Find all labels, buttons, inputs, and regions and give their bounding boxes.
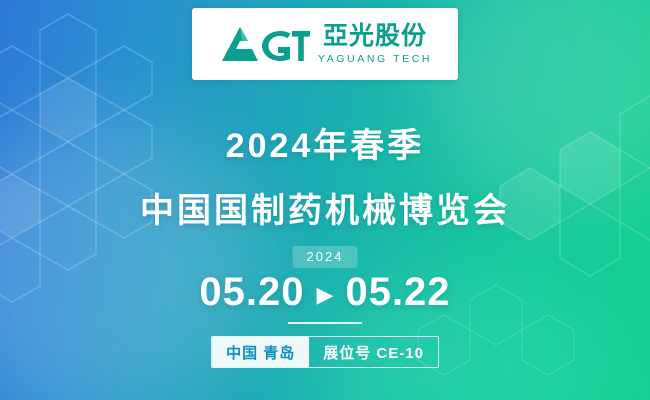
year-badge: 2024 — [293, 246, 358, 268]
date-start: 05.20 — [199, 270, 304, 315]
date-end: 05.22 — [345, 270, 450, 315]
logo-wordmark: 亞光股份 YAGUANG TECH — [318, 24, 432, 65]
venue-info-bar: 中国 青岛 展位号 CE-10 — [211, 336, 439, 368]
logo-company-name-en: YAGUANG TECH — [318, 54, 432, 65]
logo-company-name-cn: 亞光股份 — [323, 24, 427, 49]
venue-location: 中国 青岛 — [212, 337, 309, 367]
arrow-right-icon: ▶ — [317, 284, 334, 306]
booth-number: 展位号 CE-10 — [309, 337, 438, 367]
company-logo-card: 亞光股份 YAGUANG TECH — [192, 8, 458, 80]
headline-line-2: 中国国制药机械博览会 — [0, 183, 650, 232]
agt-logo-icon — [218, 21, 310, 67]
logo-inner: 亞光股份 YAGUANG TECH — [218, 21, 432, 67]
exhibition-banner: 亞光股份 YAGUANG TECH 2024年春季 中国国制药机械博览会 202… — [0, 0, 650, 400]
event-date-range: 05.20 ▶ 05.22 — [0, 270, 650, 315]
headline-block: 2024年春季 中国国制药机械博览会 — [0, 118, 650, 232]
date-underline-divider — [288, 322, 362, 324]
headline-line-1: 2024年春季 — [0, 118, 650, 167]
